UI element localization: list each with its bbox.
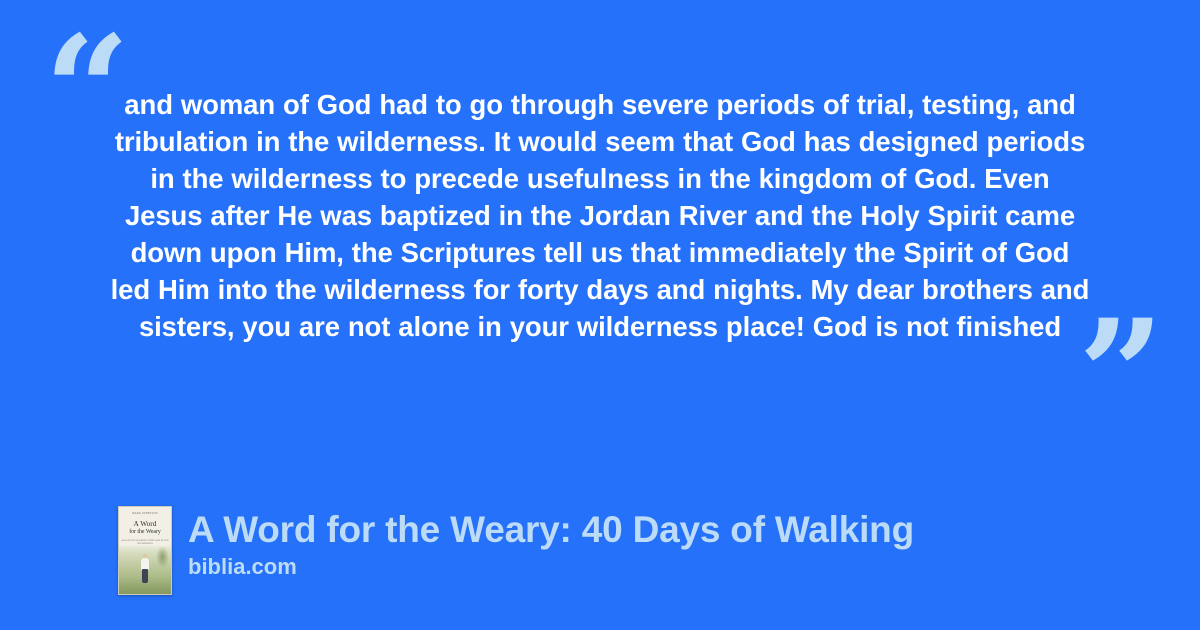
- cover-title-line2: for the Weary: [119, 528, 171, 536]
- quote-text: and woman of God had to go through sever…: [108, 86, 1092, 345]
- attribution-text-group: A Word for the Weary: 40 Days of Walking…: [188, 506, 914, 580]
- cover-title-text: A Word for the Weary: [119, 520, 171, 537]
- book-title: A Word for the Weary: 40 Days of Walking: [188, 508, 914, 552]
- cover-author-text: MARK JOHNSTON: [119, 512, 171, 515]
- quote-card: “ and woman of God had to go through sev…: [0, 0, 1200, 630]
- attribution-footer: MARK JOHNSTON A Word for the Weary 40 DA…: [118, 506, 914, 595]
- book-cover-thumbnail: MARK JOHNSTON A Word for the Weary 40 DA…: [118, 506, 172, 595]
- cover-title-line1: A Word: [119, 520, 171, 528]
- cover-photo-field: [119, 546, 171, 594]
- site-name: biblia.com: [188, 554, 914, 580]
- cover-subtitle-text: 40 DAYS OF WALKING WITH GOD IN THE WILDE…: [119, 539, 171, 546]
- quote-block: and woman of God had to go through sever…: [108, 86, 1092, 345]
- cover-figure-legs: [142, 569, 148, 583]
